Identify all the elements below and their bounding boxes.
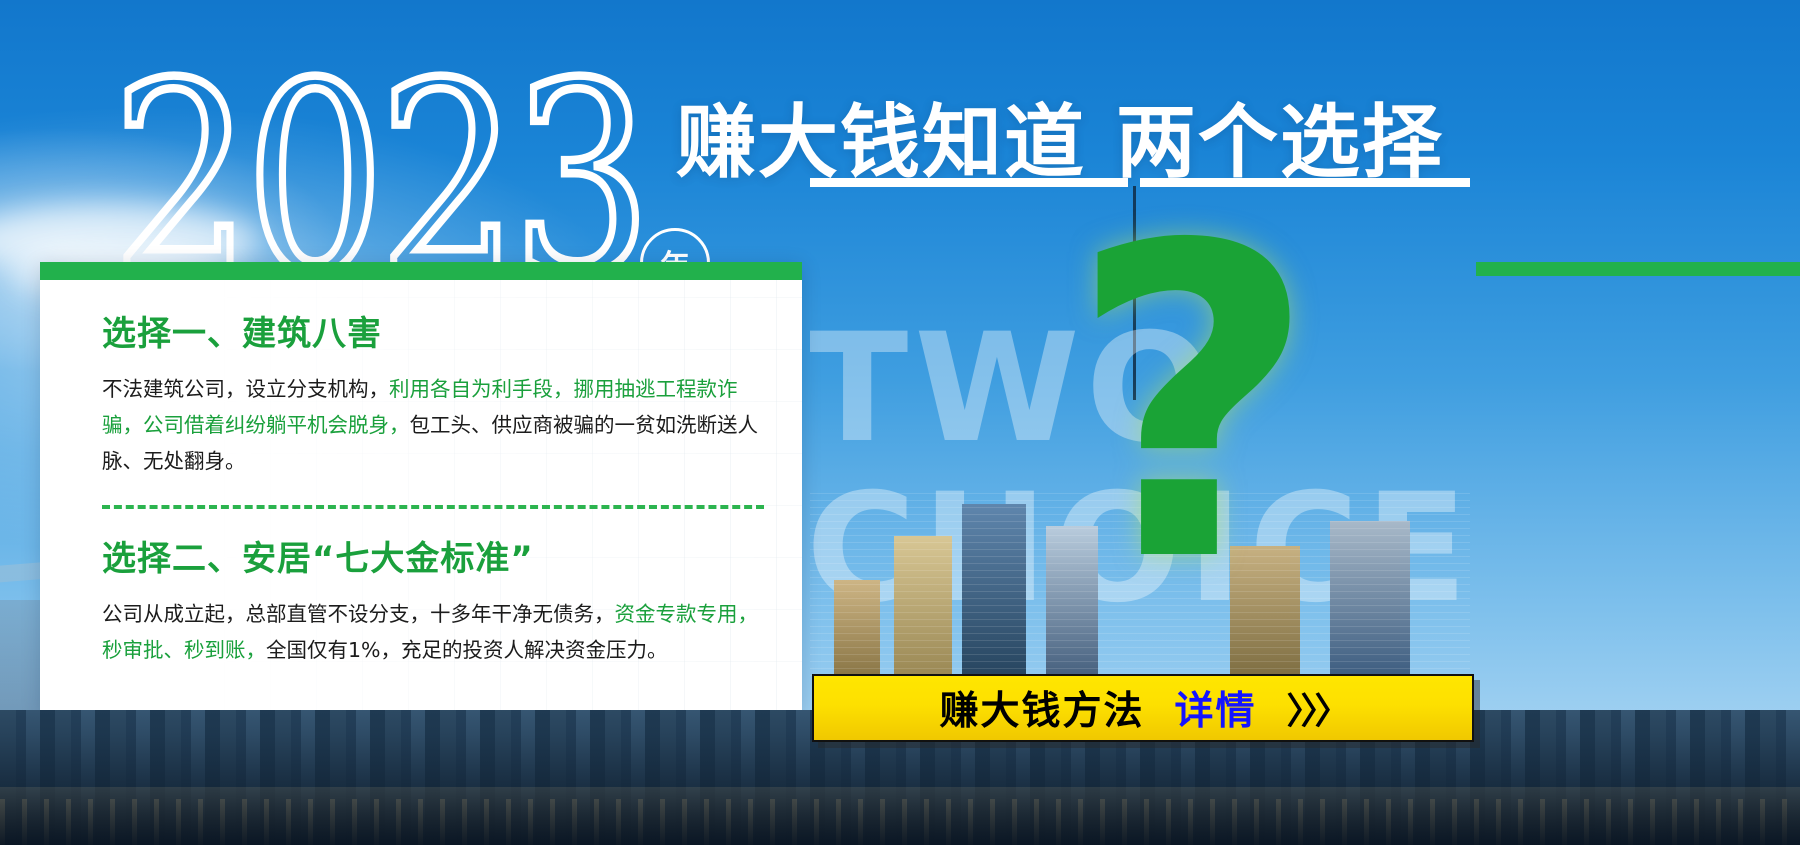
- cta-button[interactable]: 赚大钱方法 详情 〉〉〉: [812, 674, 1474, 742]
- building-shape: [834, 580, 880, 676]
- cta-main-label: 赚大钱方法: [939, 680, 1144, 736]
- right-visual-panel: TWO CHOICES ?: [810, 186, 1470, 676]
- section-one-body: 不法建筑公司，设立分支机构，利用各自为利手段，挪用抽逃工程款诈骗，公司借着纠纷躺…: [102, 371, 764, 479]
- text-run: 公司从成立起，总部直管不设分支，十多年干净无债务，: [102, 602, 615, 626]
- water-reflection: [0, 799, 1800, 845]
- content-card: 选择一、建筑八害 不法建筑公司，设立分支机构，利用各自为利手段，挪用抽逃工程款诈…: [40, 262, 802, 714]
- building-shape: [1330, 521, 1410, 676]
- section-one-title: 选择一、建筑八害: [102, 306, 764, 355]
- year-logo: 2023 年: [112, 58, 712, 273]
- page-title: 赚大钱知道 两个选择: [676, 78, 1444, 194]
- section-two-title: 选择二、安居“七大金标准”: [102, 531, 764, 580]
- section-divider: [102, 505, 764, 509]
- building-shape: [962, 504, 1026, 676]
- banner-canvas: 2023 年 赚大钱知道 两个选择 TWO CHOICES ? 选择一、建筑八害: [0, 0, 1800, 845]
- question-mark-icon: ?: [1068, 216, 1317, 596]
- building-shape: [894, 536, 952, 676]
- section-two-body: 公司从成立起，总部直管不设分支，十多年干净无债务，资金专款专用，秒审批、秒到账，…: [102, 596, 764, 668]
- chevron-right-icon: 〉〉〉: [1287, 682, 1347, 734]
- right-green-accent-bar: [1476, 262, 1800, 276]
- cta-detail-label: 详情: [1174, 680, 1256, 736]
- text-run: 全国仅有1%，充足的投资人解决资金压力。: [266, 638, 668, 662]
- text-run: 不法建筑公司，设立分支机构，: [102, 377, 389, 401]
